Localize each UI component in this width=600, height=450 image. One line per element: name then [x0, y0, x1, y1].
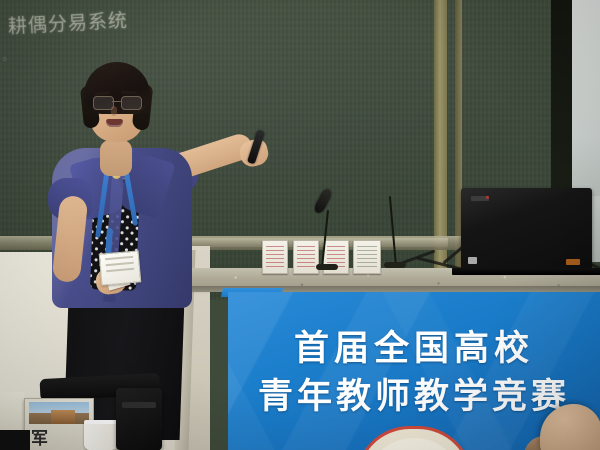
placard-4	[353, 240, 381, 274]
placard-1-text	[266, 245, 284, 267]
placard-4-text	[357, 245, 377, 267]
laptop-sticker-right	[566, 259, 580, 265]
video-camera	[116, 388, 162, 450]
placard-2	[293, 240, 319, 274]
laptop-lid[interactable]	[461, 188, 592, 270]
paper-cup-rim	[84, 420, 118, 424]
chalk-writing-secondary: 。	[1, 45, 42, 66]
microphone-base-left	[316, 264, 338, 270]
microphone-base-right	[384, 262, 406, 268]
placard-2-text	[297, 245, 315, 267]
banner-title-line-1: 首届全国高校	[228, 320, 600, 371]
whiteboard-panel	[572, 0, 600, 196]
laptop-base	[452, 268, 600, 275]
paper-cup	[84, 420, 118, 450]
video-camera-grip	[122, 402, 156, 408]
laptop-sticker-left	[468, 257, 477, 264]
booklet-character: 军	[31, 424, 48, 449]
thinkpad-logo-dot	[486, 196, 489, 199]
thinkpad-logo-icon	[471, 196, 489, 201]
photo-scene: 耕偶分易系统 。	[0, 0, 600, 450]
placard-1	[262, 240, 288, 274]
booklet-cover-image	[29, 402, 89, 424]
banner-title-line-2: 青年教师教学竞赛	[228, 368, 600, 419]
foreground-dark-object	[0, 430, 30, 450]
booklet-building-icon	[51, 410, 75, 424]
